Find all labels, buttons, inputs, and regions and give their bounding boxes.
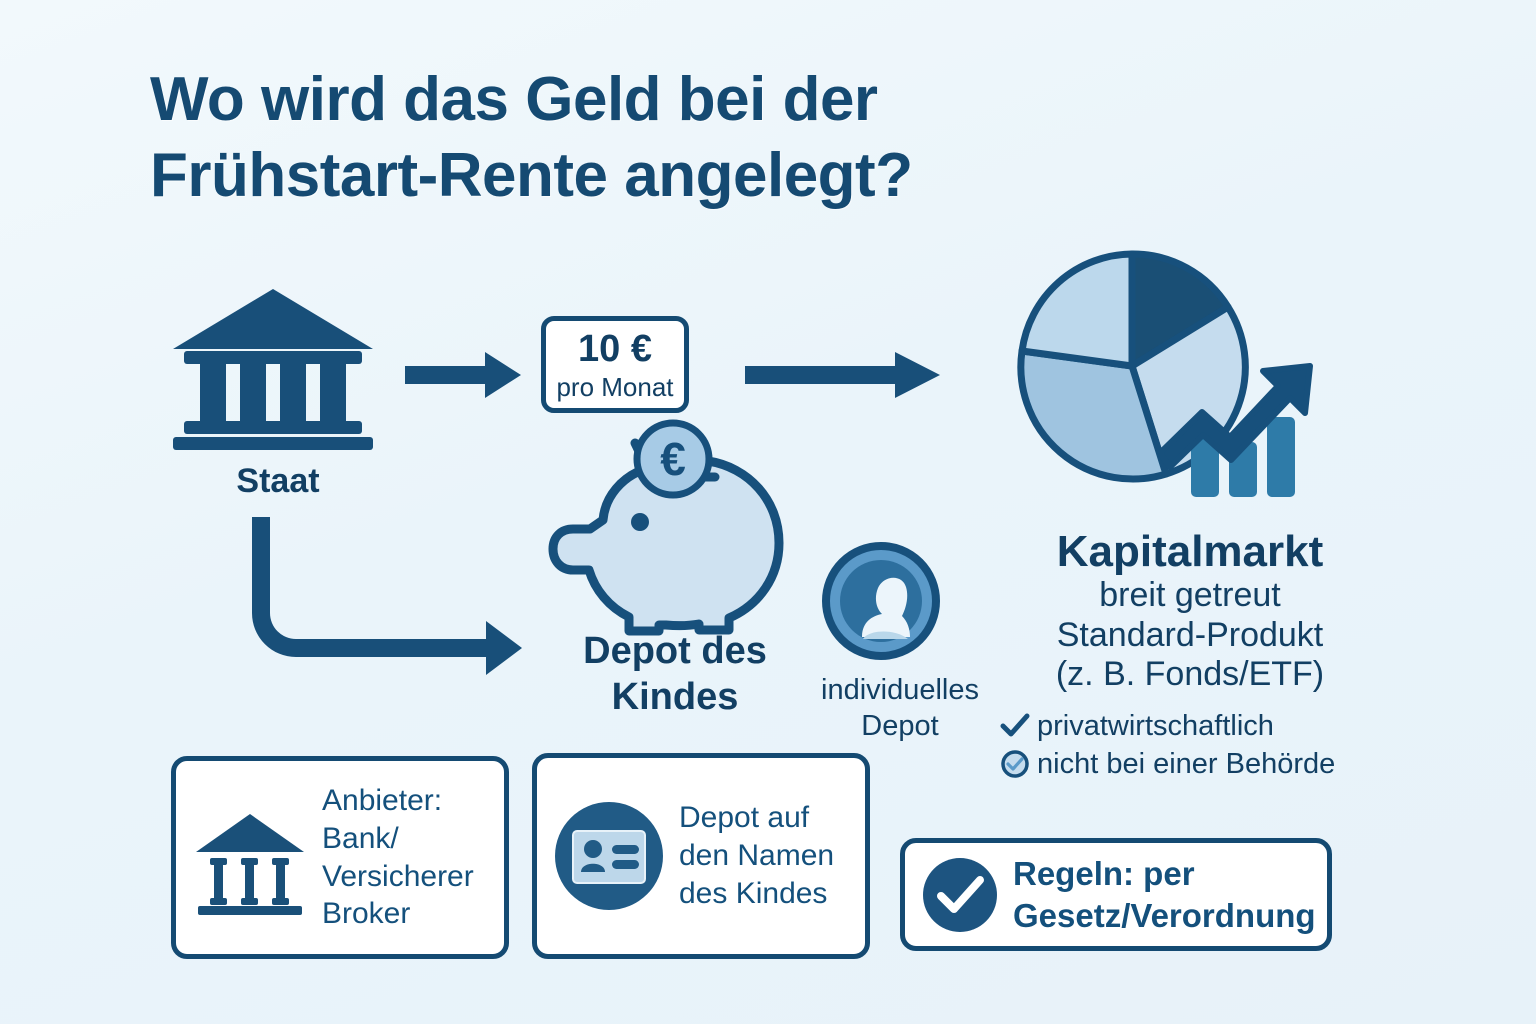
id-card-icon xyxy=(553,800,665,912)
card-anbieter[interactable]: Anbieter: Bank/ Versicherer Broker xyxy=(171,756,509,959)
bullet-label: nicht bei einer Behörde xyxy=(1037,745,1335,783)
capital-market-bullets: privatwirtschaftlich nicht bei einer Beh… xyxy=(990,707,1390,784)
money-amount: 10 € xyxy=(578,330,652,368)
card-line: den Namen xyxy=(679,837,834,875)
card-line: Regeln: per xyxy=(1013,853,1316,895)
euro-coin-icon: € xyxy=(632,418,714,500)
card-line: Gesetz/Verordnung xyxy=(1013,895,1316,937)
capital-market-line-1: breit getreut xyxy=(990,576,1390,615)
arrow-elbow-down-right-icon xyxy=(252,515,522,675)
money-period: pro Monat xyxy=(556,374,673,400)
card-line: Versicherer xyxy=(322,858,474,896)
card-regeln-text: Regeln: per Gesetz/Verordnung xyxy=(1013,853,1316,936)
individual-depot-line-2: Depot xyxy=(790,708,1010,744)
page-title: Wo wird das Geld bei der Frühstart-Rente… xyxy=(150,62,1150,213)
card-depot-text: Depot auf den Namen des Kindes xyxy=(679,799,834,912)
card-line: Anbieter: xyxy=(322,782,474,820)
bullet-item: privatwirtschaftlich xyxy=(1000,707,1390,745)
capital-market-block: Kapitalmarkt breit getreut Standard-Prod… xyxy=(990,528,1390,783)
card-line: Depot auf xyxy=(679,799,834,837)
check-circle-icon xyxy=(1000,749,1030,779)
pie-chart-growth-icon xyxy=(1020,238,1330,518)
staat-label: Staat xyxy=(168,462,388,501)
bullet-item: nicht bei einer Behörde xyxy=(1000,745,1390,783)
infographic-canvas: Wo wird das Geld bei der Frühstart-Rente… xyxy=(0,0,1536,1024)
title-line-2: Frühstart-Rente angelegt? xyxy=(150,138,1150,214)
capital-market-line-3: (z. B. Fonds/ETF) xyxy=(990,655,1390,694)
money-callout-box: 10 € pro Monat xyxy=(541,316,689,413)
individual-depot-label: individuelles Depot xyxy=(790,672,1010,745)
individual-depot-line-1: individuelles xyxy=(790,672,1010,708)
arrow-right-icon xyxy=(405,352,521,398)
arrow-right-icon xyxy=(745,352,940,398)
title-line-1: Wo wird das Geld bei der xyxy=(150,62,1150,138)
piggy-label-line-2: Kindes xyxy=(540,674,810,720)
card-line: Bank/ xyxy=(322,820,474,858)
card-line: des Kindes xyxy=(679,875,834,913)
bank-building-icon xyxy=(168,285,378,450)
check-icon xyxy=(1000,712,1030,740)
card-anbieter-text: Anbieter: Bank/ Versicherer Broker xyxy=(322,782,474,933)
card-regeln[interactable]: Regeln: per Gesetz/Verordnung xyxy=(900,838,1332,951)
capital-market-line-2: Standard-Produkt xyxy=(990,616,1390,655)
card-line: Broker xyxy=(322,895,474,933)
bullet-label: privatwirtschaftlich xyxy=(1037,707,1274,745)
piggy-label: Depot des Kindes xyxy=(540,628,810,721)
capital-market-title: Kapitalmarkt xyxy=(990,528,1390,576)
card-depot[interactable]: Depot auf den Namen des Kindes xyxy=(532,753,870,959)
check-circle-filled-icon xyxy=(921,856,999,934)
euro-symbol: € xyxy=(660,433,686,485)
bank-building-icon xyxy=(192,800,308,916)
child-profile-avatar-icon xyxy=(822,542,940,660)
